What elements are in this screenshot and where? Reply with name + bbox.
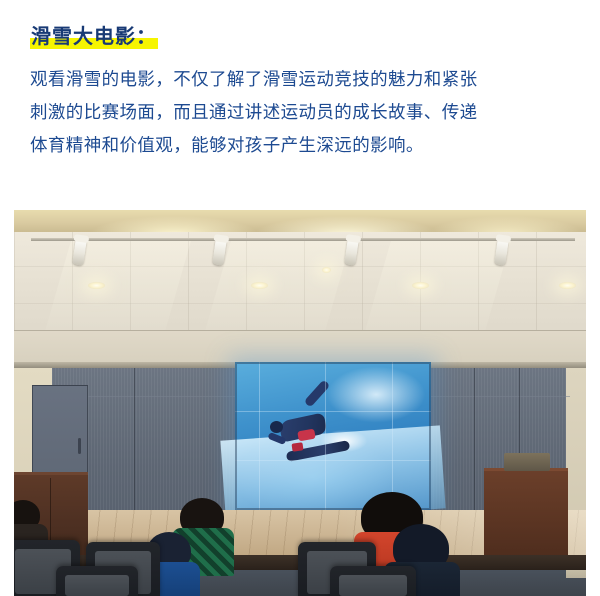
ceiling-downlight-icon [559, 282, 576, 289]
ceiling-downlight-icon [88, 282, 105, 289]
ceiling-sensor-icon [322, 267, 331, 273]
auditorium-chair [56, 566, 138, 596]
lighting-track-rail [31, 238, 574, 241]
paragraph-line-1: 观看滑雪的电影，不仅了解了滑雪运动竞技的魅力和紧张 [30, 63, 582, 96]
lecture-hall-photo [14, 210, 586, 596]
chair-backrest-pad [65, 575, 129, 596]
article-text-block: 滑雪大电影： 观看滑雪的电影，不仅了解了滑雪运动竞技的魅力和紧张 刺激的比赛场面… [0, 0, 600, 162]
wall-seam-horizontal [418, 396, 570, 397]
ceiling-downlight-icon [412, 282, 429, 289]
paragraph-line-2: 刺激的比赛场面，而且通过讲述运动员的成长故事、传递 [30, 96, 582, 129]
ceiling-downlight-icon [251, 282, 268, 289]
section-heading: 滑雪大电影： [30, 26, 158, 49]
page-root: 滑雪大电影： 观看滑雪的电影，不仅了解了滑雪运动竞技的魅力和紧张 刺激的比赛场面… [0, 0, 600, 596]
section-heading-highlight: 滑雪大电影： [30, 26, 158, 49]
cabinet-top-box [504, 453, 550, 471]
side-cabinet [484, 468, 568, 561]
chair-backrest-pad [339, 575, 407, 596]
paragraph-line-3: 体育精神和价值观，能够对孩子产生深远的影响。 [30, 129, 582, 162]
screen-bezel [235, 362, 431, 510]
soffit-light-glow [14, 210, 586, 232]
door-handle-icon[interactable] [78, 438, 81, 454]
ceiling-lower-band [14, 330, 586, 365]
auditorium-chair [330, 566, 416, 596]
